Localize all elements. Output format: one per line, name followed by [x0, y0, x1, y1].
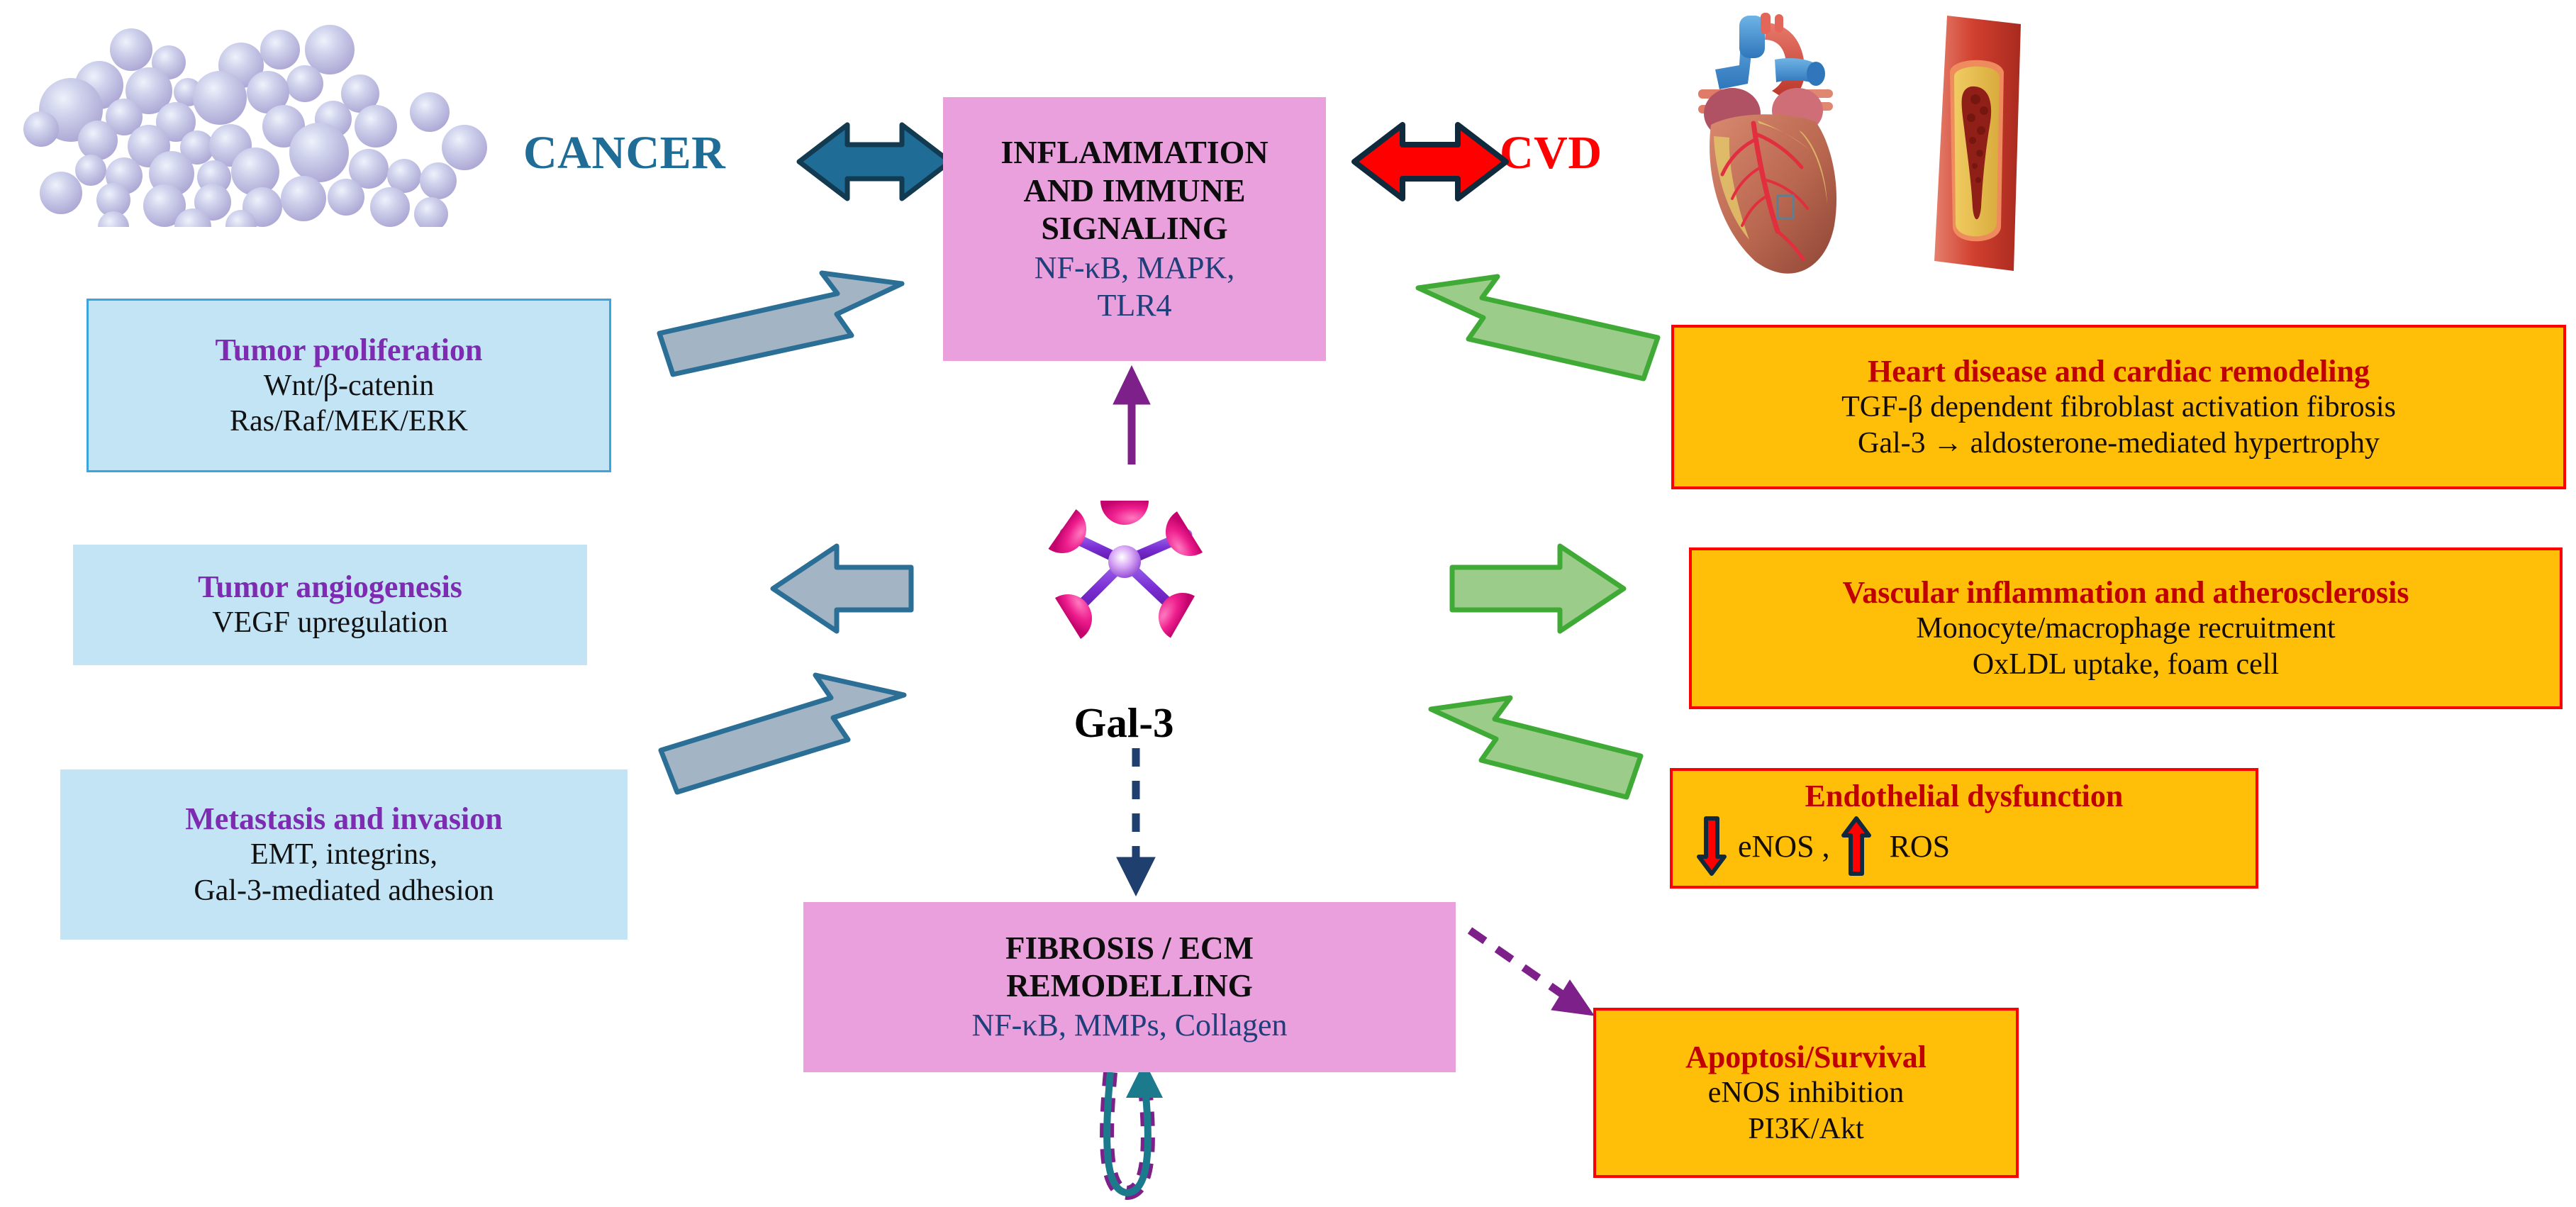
gal3-to-inflammation-arrow	[1113, 366, 1150, 465]
gal3-to-tumor-angiogenesis-arrow	[773, 546, 911, 631]
endothelial-dysfunction-title: Endothelial dysfunction	[1673, 771, 2256, 814]
apoptosis-survival-line-2: PI3K/Akt	[1748, 1111, 1863, 1147]
inflammation-title-line-3: SIGNALING	[1041, 209, 1227, 247]
metastasis-invasion-line-2: Gal-3-mediated adhesion	[194, 873, 494, 908]
gal3-to-vascular-inflammation-arrow	[1452, 546, 1624, 631]
heart-disease-line-1: TGF-β dependent fibroblast activation fi…	[1841, 389, 2396, 425]
atherosclerotic-artery-cross-section-image	[1914, 11, 2049, 281]
metastasis-invasion-title: Metastasis and invasion	[185, 801, 502, 837]
tumor-proliferation-line-1: Wnt/β-catenin	[264, 368, 435, 404]
endothelial-dysfunction-box[interactable]: Endothelial dysfunction eNOS , ROS	[1670, 768, 2258, 889]
endothelial-line-1: eNOS ,	[1738, 828, 1830, 864]
fibrosis-title-line-2: REMODELLING	[1006, 967, 1253, 1004]
fibrosis-to-apoptosis-arrow	[1470, 930, 1594, 1016]
heart-disease-box[interactable]: Heart disease and cardiac remodeling TGF…	[1671, 325, 2566, 489]
gal3-center-label: Gal-3	[1021, 699, 1227, 747]
heart-disease-title: Heart disease and cardiac remodeling	[1868, 353, 2370, 389]
heart-disease-line-2: Gal-3 → aldosterone-mediated hypertrophy	[1858, 425, 2380, 461]
fibrosis-sub-line-1: NF-κB, MMPs, Collagen	[971, 1007, 1287, 1045]
vascular-inflammation-box[interactable]: Vascular inflammation and atherosclerosi…	[1689, 547, 2563, 709]
tumor-angiogenesis-title: Tumor angiogenesis	[198, 569, 462, 605]
up-arrow-icon	[1841, 816, 1871, 877]
apoptosis-survival-box[interactable]: Apoptosi/Survival eNOS inhibition PI3K/A…	[1593, 1008, 2019, 1178]
human-heart-anatomy-image	[1698, 6, 1911, 289]
tumor-proliferation-box[interactable]: Tumor proliferation Wnt/β-catenin Ras/Ra…	[87, 299, 611, 472]
endothelial-line-2: ROS	[1890, 828, 1951, 864]
inflammation-sub-line-2: TLR4	[1097, 287, 1171, 325]
gal3-to-endothelial-dysfunction-arrow	[1431, 698, 1641, 797]
metastasis-invasion-line-1: EMT, integrins,	[250, 837, 437, 872]
cancer-bidirectional-arrow	[799, 125, 950, 199]
fibrosis-feedback-loop-arrow	[1107, 1061, 1163, 1193]
inflammation-to-heart-disease-arrow	[1418, 277, 1658, 379]
tumor-proliferation-title: Tumor proliferation	[216, 332, 483, 368]
tumor-angiogenesis-line-1: VEGF upregulation	[212, 605, 447, 640]
apoptosis-survival-line-1: eNOS inhibition	[1708, 1075, 1905, 1111]
vascular-inflammation-title: Vascular inflammation and atherosclerosi…	[1843, 574, 2409, 611]
tumor-angiogenesis-box[interactable]: Tumor angiogenesis VEGF upregulation	[73, 545, 587, 665]
inflammation-title-line-2: AND IMMUNE	[1023, 172, 1245, 209]
tumor-cell-cluster-image	[7, 7, 503, 227]
down-arrow-icon	[1697, 816, 1727, 877]
gal3-to-metastasis-arrow	[661, 675, 904, 792]
vascular-inflammation-line-2: OxLDL uptake, foam cell	[1973, 647, 2279, 682]
vascular-inflammation-line-1: Monocyte/macrophage recruitment	[1916, 611, 2335, 646]
cvd-axis-label: CVD	[1500, 126, 1602, 180]
inflammation-sub-line-1: NF-κB, MAPK,	[1035, 250, 1235, 287]
tumor-proliferation-line-2: Ras/Raf/MEK/ERK	[230, 404, 468, 439]
cancer-axis-label: CANCER	[523, 126, 725, 180]
gal3-pentamer-icon	[997, 468, 1252, 688]
fibrosis-title-line-1: FIBROSIS / ECM	[1005, 930, 1254, 967]
inflammation-to-tumor-proliferation-arrow	[659, 273, 902, 374]
metastasis-invasion-box[interactable]: Metastasis and invasion EMT, integrins, …	[60, 769, 628, 940]
cvd-bidirectional-arrow	[1354, 125, 1506, 199]
fibrosis-ecm-remodelling-box[interactable]: FIBROSIS / ECM REMODELLING NF-κB, MMPs, …	[803, 902, 1456, 1072]
inflammation-title-line-1: INFLAMMATION	[1000, 133, 1268, 171]
apoptosis-survival-title: Apoptosi/Survival	[1685, 1039, 1927, 1075]
gal3-to-fibrosis-arrow	[1117, 748, 1155, 896]
inflammation-signaling-box[interactable]: INFLAMMATION AND IMMUNE SIGNALING NF-κB,…	[943, 97, 1326, 361]
